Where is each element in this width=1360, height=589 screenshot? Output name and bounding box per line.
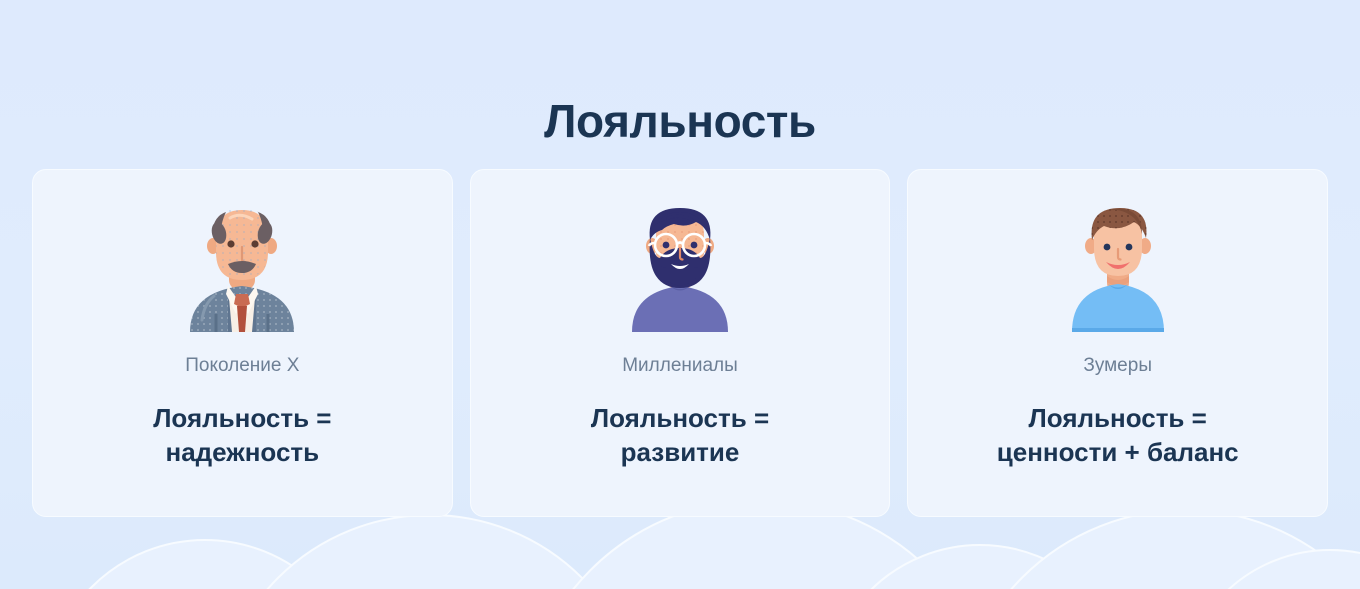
- decor-circle: [1180, 550, 1360, 589]
- page-title: Лояльность: [0, 93, 1360, 149]
- decor-circle: [955, 510, 1360, 589]
- generation-statement: Лояльность = надежность: [139, 401, 345, 469]
- generation-label: Зумеры: [1083, 354, 1152, 378]
- generation-card-zoomers[interactable]: Зумеры Лояльность = ценности + баланс: [907, 169, 1328, 517]
- generation-card-gen-x[interactable]: Поколение X Лояльность = надежность: [32, 169, 453, 517]
- decor-circle: [215, 515, 645, 589]
- generation-card-millennials[interactable]: Миллениалы Лояльность = развитие: [470, 169, 891, 517]
- older-man-avatar-icon: [172, 202, 312, 332]
- decor-circle: [45, 540, 365, 589]
- bearded-millennial-avatar-icon: [610, 202, 750, 332]
- slide-root: Лояльность: [0, 0, 1360, 589]
- generation-label: Поколение X: [185, 354, 299, 378]
- generation-card-list: Поколение X Лояльность = надежность: [32, 169, 1328, 517]
- young-zoomer-avatar-icon: [1048, 202, 1188, 332]
- generation-label: Миллениалы: [622, 354, 738, 378]
- decor-circle: [825, 545, 1135, 589]
- generation-statement: Лояльность = ценности + баланс: [983, 401, 1253, 469]
- generation-statement: Лояльность = развитие: [577, 401, 783, 469]
